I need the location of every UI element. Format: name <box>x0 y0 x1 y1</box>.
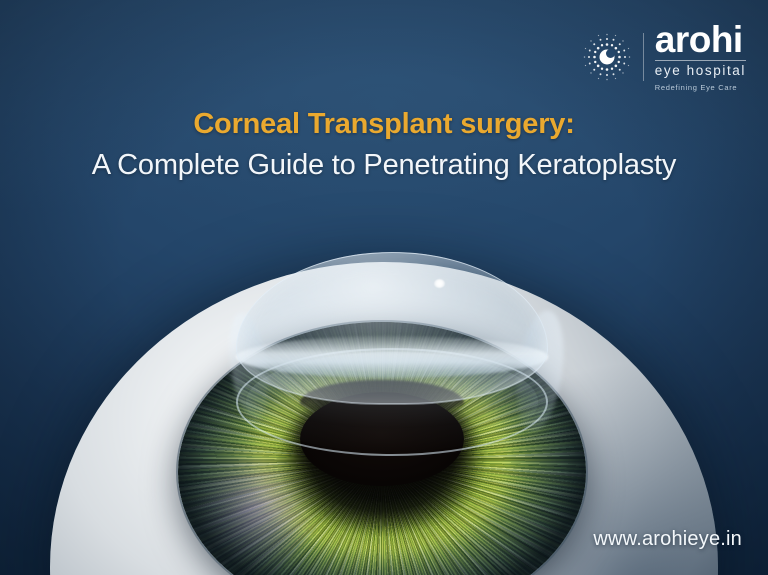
title-line-secondary: A Complete Guide to Penetrating Keratopl… <box>0 145 768 186</box>
pupil <box>300 392 464 486</box>
logo-wordmark-group: arohi eye hospital Redefining Eye Care <box>655 22 746 91</box>
logo[interactable]: arohi eye hospital Redefining Eye Care <box>582 22 746 91</box>
website-url[interactable]: www.arohieye.in <box>593 528 742 551</box>
logo-rule <box>655 60 746 61</box>
radial-burst-eye-icon <box>582 32 632 82</box>
banner: arohi eye hospital Redefining Eye Care C… <box>0 0 768 575</box>
page-title: Corneal Transplant surgery: A Complete G… <box>0 104 768 186</box>
title-line-primary: Corneal Transplant surgery: <box>0 104 768 145</box>
logo-divider <box>643 33 644 81</box>
logo-subtitle: eye hospital <box>655 64 746 79</box>
logo-wordmark: arohi <box>655 22 746 57</box>
logo-tagline: Redefining Eye Care <box>655 84 746 92</box>
